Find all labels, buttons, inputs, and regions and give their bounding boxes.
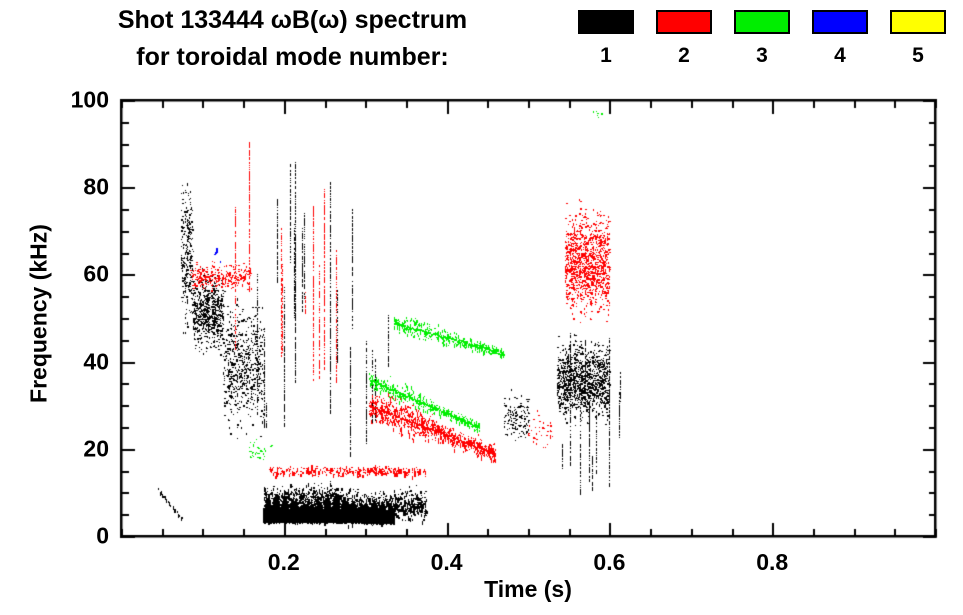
y-tick-label-20: 20 [43, 435, 109, 462]
x-tick-label-0.8: 0.8 [756, 549, 788, 576]
y-tick-label-100: 100 [43, 87, 109, 114]
spectrogram-canvas [0, 0, 963, 615]
y-tick-label-40: 40 [43, 348, 109, 375]
x-tick-label-0.2: 0.2 [268, 549, 300, 576]
x-tick-label-0.6: 0.6 [593, 549, 625, 576]
x-tick-label-0.4: 0.4 [431, 549, 463, 576]
y-tick-label-0: 0 [43, 523, 109, 550]
x-axis-title: Time (s) [383, 576, 673, 603]
y-tick-label-60: 60 [43, 261, 109, 288]
figure-root: Shot 133444 ωB(ω) spectrum for toroidal … [0, 0, 963, 615]
plot-area: Time (s) Frequency (kHz) 0.20.40.60.8020… [0, 0, 963, 615]
y-tick-label-80: 80 [43, 174, 109, 201]
y-axis-title: Frequency (kHz) [26, 189, 53, 439]
